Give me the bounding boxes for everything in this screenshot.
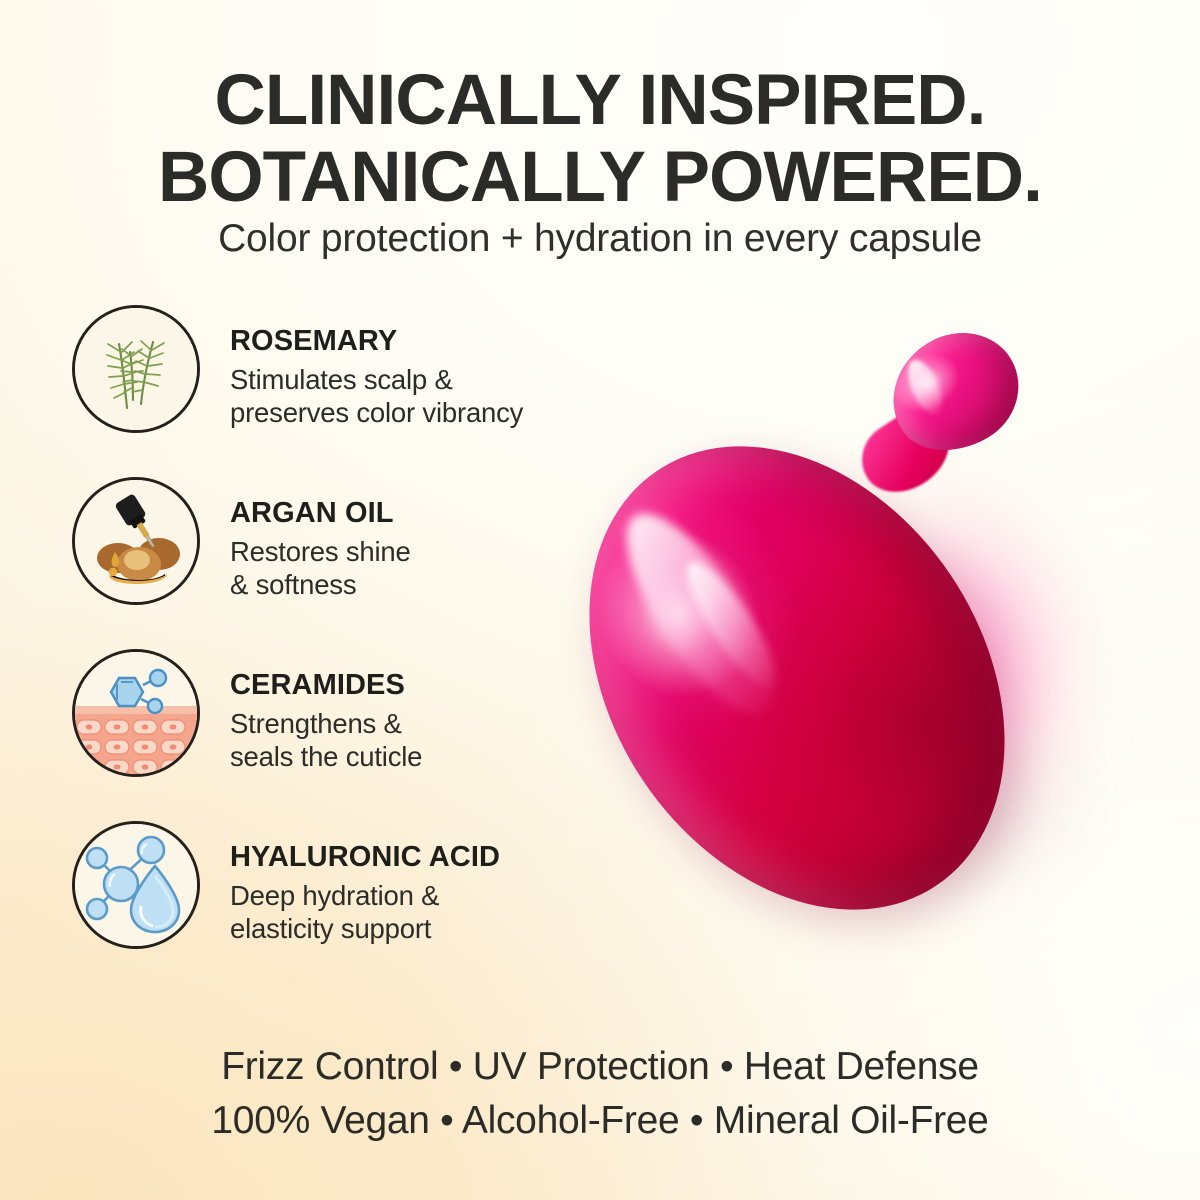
hyaluronic-acid-molecule-droplet-icon: [72, 821, 200, 949]
benefits-line-2: 100% Vegan • Alcohol-Free • Mineral Oil-…: [0, 1094, 1200, 1148]
ingredient-item-ceramides: CERAMIDES Strengthens & seals the cuticl…: [72, 649, 632, 821]
subheadline: Color protection + hydration in every ca…: [0, 216, 1200, 262]
argan-oil-dropper-icon: [72, 477, 200, 605]
page-title: CLINICALLY INSPIRED. BOTANICALLY POWERED…: [0, 62, 1200, 216]
ingredient-list: ROSEMARY Stimulates scalp & preserves co…: [72, 305, 632, 993]
rosemary-sprig-icon: [72, 305, 200, 433]
benefits-line-1: Frizz Control • UV Protection • Heat Def…: [0, 1040, 1200, 1094]
headline-line-2: BOTANICALLY POWERED.: [0, 139, 1200, 216]
hyaluronic-acid-icon-art: [75, 824, 197, 946]
ingredient-item-argan-oil: ARGAN OIL Restores shine & softness: [72, 477, 632, 649]
ceramides-skin-layer-icon: [72, 649, 200, 777]
rosemary-sprig-icon-art: [75, 308, 197, 430]
headline-line-1: CLINICALLY INSPIRED.: [0, 62, 1200, 139]
ingredient-item-hyaluronic-acid: HYALURONIC ACID Deep hydration & elastic…: [72, 821, 632, 993]
ingredient-item-rosemary: ROSEMARY Stimulates scalp & preserves co…: [72, 305, 632, 477]
infographic-canvas: CLINICALLY INSPIRED. BOTANICALLY POWERED…: [0, 0, 1200, 1200]
ceramides-skin-layer-icon-art: [75, 652, 197, 774]
product-capsule-image: [560, 300, 1200, 1000]
argan-oil-dropper-icon-art: [75, 480, 197, 602]
benefits-list: Frizz Control • UV Protection • Heat Def…: [0, 1040, 1200, 1148]
